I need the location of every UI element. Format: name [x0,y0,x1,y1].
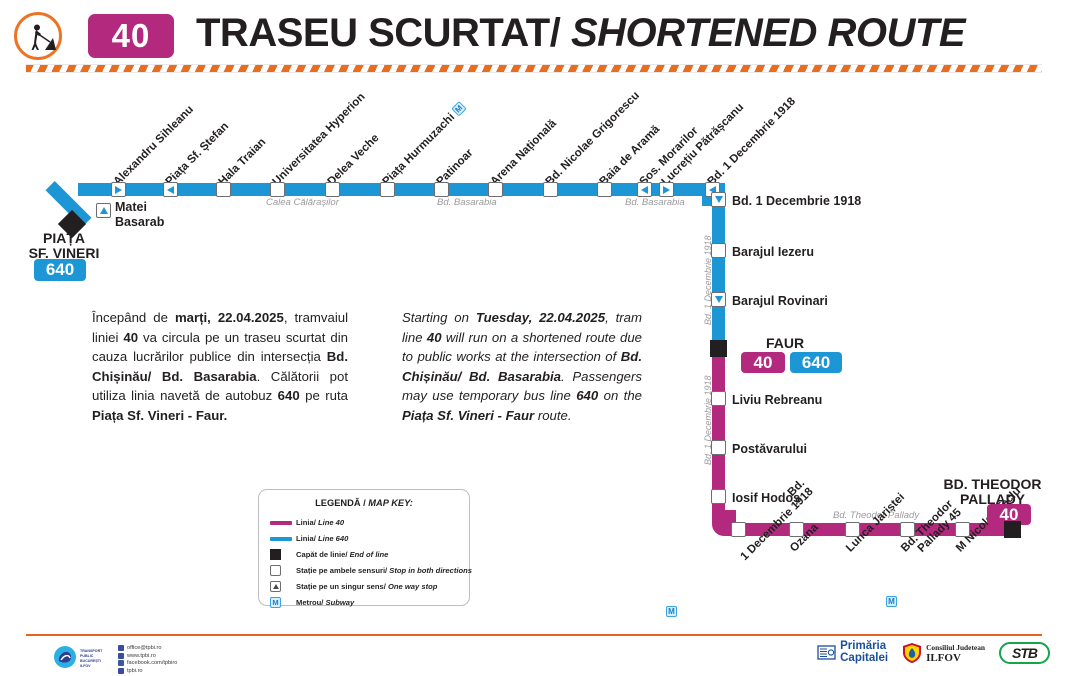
roadworks-icon [14,12,62,60]
facebook-icon [118,660,124,666]
contact-facebook[interactable]: facebook.com/tpbiro [118,660,177,667]
stop-marker-arena-nationala[interactable] [488,182,503,197]
stb-logo: STB [999,642,1050,664]
stop-marker-piata-sf-stefan[interactable] [163,182,178,197]
stop-marker-baia-de-arama[interactable] [597,182,612,197]
one-way-left-triangle [641,186,648,194]
contact-list: office@tpbi.ro www.tpbi.ro facebook.com/… [118,644,177,676]
stop-marker-postavarului[interactable] [711,440,726,455]
stop-marker-piata-hurmuzachi[interactable] [380,182,395,197]
legend-label-line-640: Linia/ Line 640 [296,534,348,543]
stop-label-liviu-rebreanu: Liviu Rebreanu [732,393,822,407]
pmb-crest-icon [817,643,836,662]
subway-icon: M [270,597,296,608]
metro-icon-hurmuzachi: M [451,101,467,117]
stop-label-hala-traian: Hala Traian [217,136,269,188]
notice-romanian: Începând de marți, 22.04.2025, tramvaiul… [92,308,348,425]
stop-marker-matei-basarab[interactable] [96,203,111,218]
stop-marker-bd-1-decembrie-1918-v[interactable] [711,192,726,207]
hazard-stripe-divider [26,64,1042,73]
stop-label-delea-veche: Delea Veche [326,132,382,188]
title-ro: TRASEU SCURTAT/ [196,11,560,55]
stop-marker-bd-nicolae-grigorescu[interactable] [543,182,558,197]
pink-line-corner-patch [712,511,725,536]
stop-marker-ozana[interactable] [789,522,804,537]
stop-label-bd-nicolae-grigorescu: Bd. Nicolae Grigorescu [544,90,642,188]
stop-marker-delea-veche[interactable] [325,182,340,197]
page-header: 40 TRASEU SCURTAT/ SHORTENED ROUTE [0,0,1068,80]
legend-row-both-directions: Stație pe ambele sensuri/ Stop in both d… [270,563,458,578]
contact-website[interactable]: www.tpbi.ro [118,652,177,659]
one-way-down-triangle [715,296,723,303]
one-way-right-triangle [663,186,670,194]
stop-label-bd-1-decembrie-top: Bd. 1 Decembrie 1918 [706,95,799,188]
line-640-swatch [270,537,296,541]
legend-box: LEGENDĂ / MAP KEY: Linia/ Line 40 Linia/… [258,489,470,606]
one-way-right-triangle [115,186,122,194]
email-icon [118,645,124,651]
stop-label-bd-1-decembrie-1918-v: Bd. 1 Decembrie 1918 [732,194,861,208]
legend-row-line-40: Linia/ Line 40 [270,515,458,530]
globe-icon [118,653,124,659]
partner-logos: Primăria Capitalei Consiliul Judetean IL… [817,641,1050,664]
line-40-swatch [270,521,296,525]
stop-marker-patinoar[interactable] [434,182,449,197]
svg-text:BUCUREȘTI: BUCUREȘTI [80,659,101,663]
ilfov-shield-icon [902,642,922,664]
stop-marker-alexandru-sihleanu[interactable] [111,182,126,197]
stop-label-postavarului: Postăvarului [732,442,807,456]
stop-label-universitatea-hyperion: Universitatea Hyperion [271,91,368,188]
legend-label-line-40: Linia/ Line 40 [296,518,344,527]
svg-text:TRANSPORT: TRANSPORT [80,649,103,653]
legend-label-subway: Metrou/ Subway [296,598,354,607]
terminus-chip-640-west: 640 [34,259,86,281]
stop-label-barajul-rovinari: Barajul Rovinari [732,294,828,308]
consiliul-judetean-ilfov-logo: Consiliul Judetean ILFOV [902,642,985,664]
terminus-marker-bd-theodor-pallady [1004,521,1021,538]
stop-marker-barajul-iezeru[interactable] [711,243,726,258]
legend-label-both-directions: Stație pe ambele sensuri/ Stop in both d… [296,566,472,575]
one-way-up-triangle [100,207,108,214]
legend-row-line-640: Linia/ Line 640 [270,531,458,546]
svg-text:PUBLIC: PUBLIC [80,654,94,658]
pmb-text: Primăria Capitalei [840,641,888,664]
terminus-marker-faur [710,340,727,357]
footer-divider [26,634,1042,636]
stop-marker-hala-traian[interactable] [216,182,231,197]
one-way-left-triangle [167,186,174,194]
legend-label-one-way: Stație pe un singur sens/ One way stop [296,582,437,591]
contact-email[interactable]: office@tpbi.ro [118,644,177,651]
street-label-bd-basarabia-2: Bd. Basarabia [625,197,685,208]
stop-marker-lucretiu-patrascanu[interactable] [659,182,674,197]
legend-label-end-of-line: Capăt de linie/ End of line [296,550,388,559]
title-en: SHORTENED ROUTE [571,11,965,55]
stop-marker-liviu-rebreanu[interactable] [711,391,726,406]
blue-line-horizontal-top [112,183,725,196]
metro-icon-nicolae-teclu: M [886,596,897,607]
stop-marker-bd-1-decembrie-bottom[interactable] [731,522,746,537]
terminus-label-piata-sf-vineri: PIAȚA SF. VINERI [10,231,118,261]
page-title: TRASEU SCURTAT/ SHORTENED ROUTE [196,11,965,56]
legend-title: LEGENDĂ / MAP KEY: [270,498,458,508]
stop-marker-bd-theodor-pallady-45[interactable] [900,522,915,537]
ilfov-text: Consiliul Judetean ILFOV [926,643,985,663]
interchange-label-faur: FAUR [750,336,820,351]
stop-marker-m-nicolae-teclu[interactable] [955,522,970,537]
twitter-icon [118,668,124,674]
stop-marker-sos-morarilor[interactable] [637,182,652,197]
stop-label-barajul-iezeru: Barajul Iezeru [732,245,814,259]
route-badge-40: 40 [88,14,174,58]
terminus-label-bd-theodor-pallady: BD. THEODOR PALLADY [930,477,1055,507]
legend-row-one-way: Stație pe un singur sens/ One way stop [270,579,458,594]
end-of-line-icon [270,549,296,560]
metro-icon-bd-1-decembrie: M [666,606,677,617]
svg-text:ILFOV: ILFOV [80,664,91,668]
faur-chip-40: 40 [741,352,785,373]
stop-marker-universitatea-hyperion[interactable] [270,182,285,197]
one-way-down-triangle [715,196,723,203]
legend-row-end-of-line: Capăt de linie/ End of line [270,547,458,562]
notice-english: Starting on Tuesday, 22.04.2025, tram li… [402,308,642,425]
one-way-icon [270,581,296,592]
street-label-calea-calarasilor: Calea Călărașilor [266,197,339,208]
legend-row-subway: M Metrou/ Subway [270,595,458,610]
faur-chip-640: 640 [790,352,842,373]
tpbi-logo: TRANSPORT PUBLIC BUCUREȘTI ILFOV [52,645,108,669]
stop-label-matei-basarab: Matei Basarab [115,200,164,230]
stop-marker-barajul-rovinari[interactable] [711,292,726,307]
stop-marker-iosif-hodos[interactable] [711,489,726,504]
primaria-capitalei-logo: Primăria Capitalei [817,641,888,664]
street-label-bd-basarabia-1: Bd. Basarabia [437,197,497,208]
stop-marker-lunca-jaristei[interactable] [845,522,860,537]
both-directions-icon [270,565,296,576]
blue-line-vertical [712,183,725,348]
